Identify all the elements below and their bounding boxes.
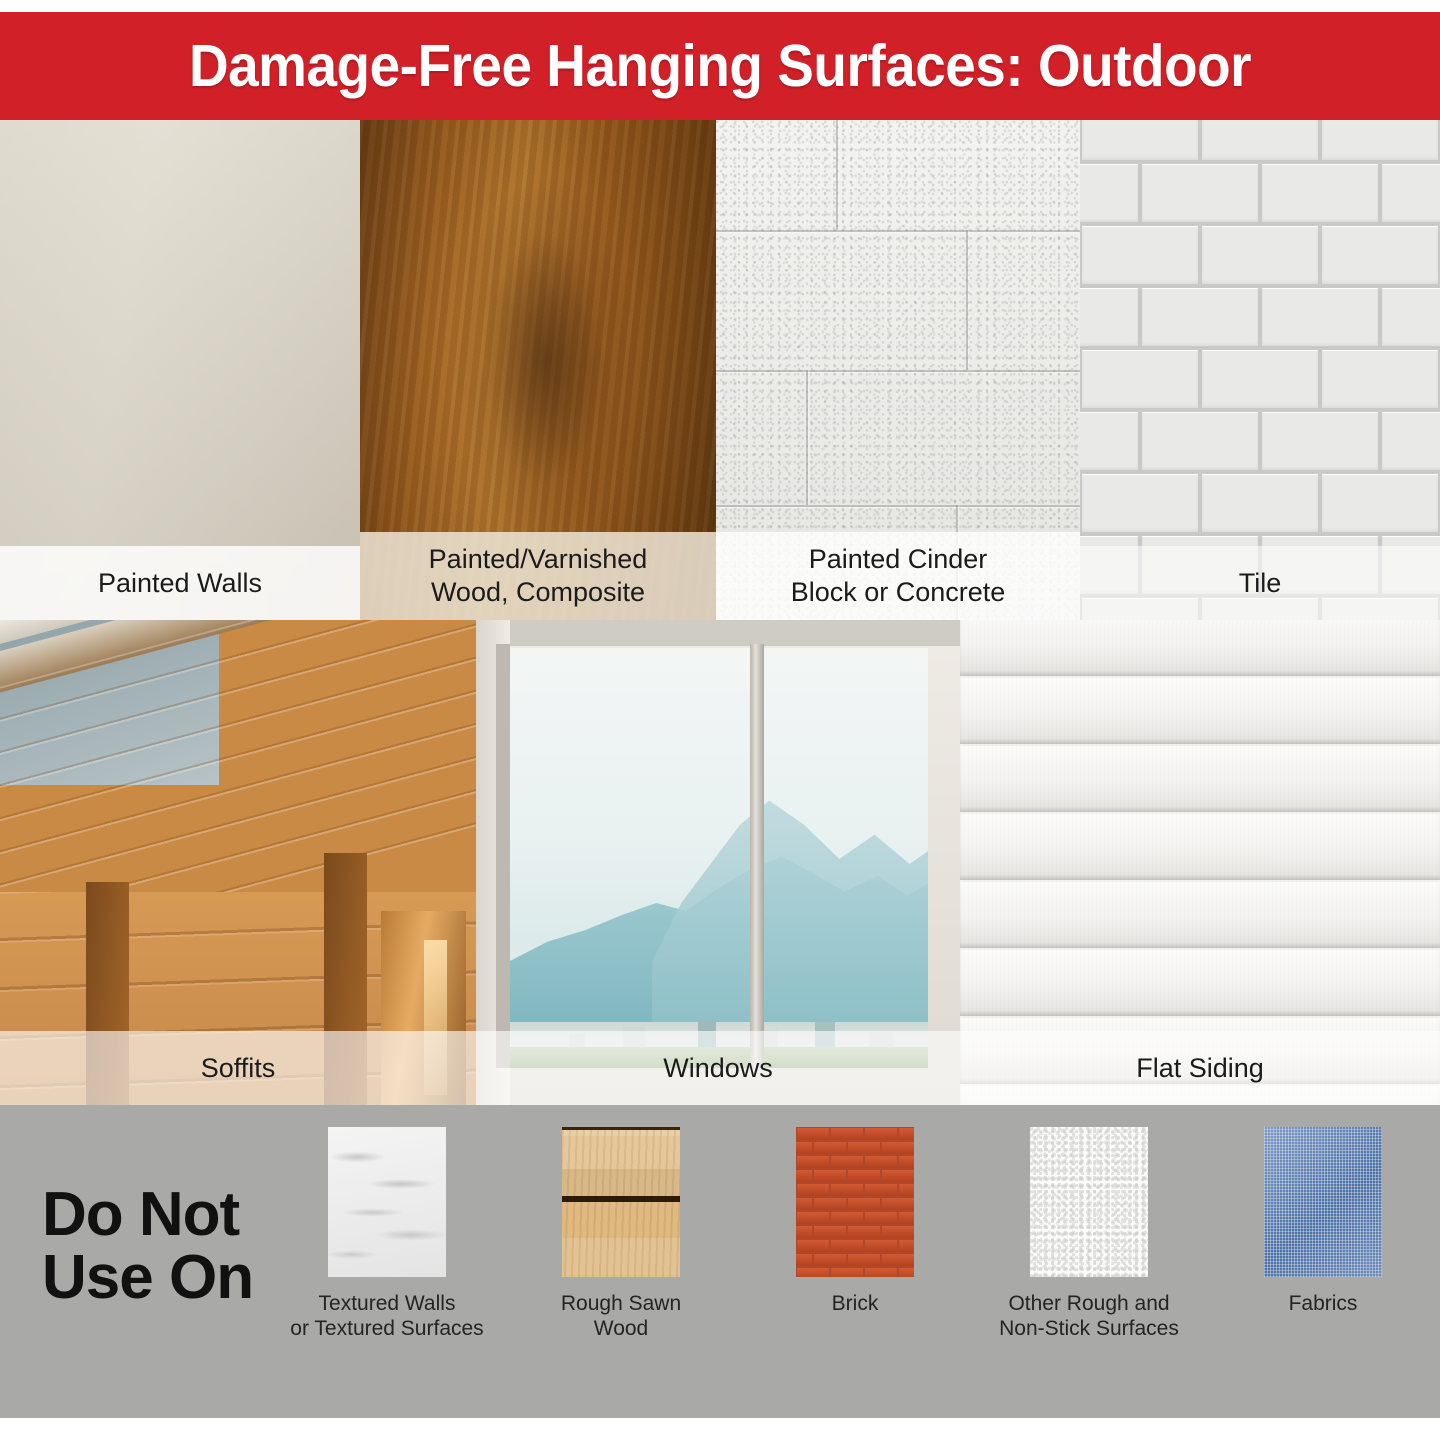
tile-caption: Painted Cinder Block or Concrete: [716, 532, 1080, 620]
surface-tile-painted-varnished-wood: Painted/Varnished Wood, Composite: [360, 120, 716, 620]
label-line-1: Painted Cinder: [809, 544, 988, 574]
label-line-2: Non-Stick Surfaces: [999, 1317, 1179, 1340]
do-not-use-title-line-1: Do Not: [42, 1183, 292, 1246]
tile-caption: Flat Siding: [960, 1031, 1440, 1105]
tile-label-painted-varnished-wood: Painted/Varnished Wood, Composite: [429, 543, 648, 609]
do-not-use-item-label: Other Rough and Non-Stick Surfaces: [999, 1291, 1179, 1341]
tile-caption: Windows: [476, 1031, 960, 1105]
do-not-use-item-label: Rough Sawn Wood: [561, 1291, 681, 1341]
tile-label-tile: Tile: [1239, 567, 1282, 600]
label-line-1: Rough Sawn: [561, 1292, 681, 1315]
do-not-use-item-label: Textured Walls or Textured Surfaces: [290, 1291, 483, 1341]
label-line-1: Brick: [832, 1292, 879, 1315]
do-not-use-item-label: Fabrics: [1289, 1291, 1358, 1316]
tile-label-flat-siding: Flat Siding: [1136, 1052, 1264, 1085]
header-banner: Damage-Free Hanging Surfaces: Outdoor: [0, 12, 1440, 120]
label-line-2: Wood, Composite: [431, 577, 645, 607]
painted-wall-swatch: [0, 120, 360, 620]
do-not-use-item: Other Rough and Non-Stick Surfaces: [972, 1105, 1206, 1341]
rough-sawn-wood-swatch: [562, 1127, 680, 1277]
tile-caption: Soffits: [0, 1031, 476, 1105]
subway-tile-swatch: [1080, 120, 1440, 620]
tile-label-soffits: Soffits: [201, 1052, 276, 1085]
tile-caption: Painted Walls: [0, 546, 360, 620]
tile-label-painted-cinder-block: Painted Cinder Block or Concrete: [791, 543, 1006, 609]
brick-swatch: [796, 1127, 914, 1277]
tile-caption: Tile: [1080, 546, 1440, 620]
do-not-use-item: Rough Sawn Wood: [504, 1105, 738, 1341]
tile-label-windows: Windows: [663, 1052, 773, 1085]
label-line-2: Block or Concrete: [791, 577, 1006, 607]
label-line-1: Textured Walls: [319, 1292, 456, 1315]
other-rough-swatch: [1030, 1127, 1148, 1277]
do-not-use-title-line-2: Use On: [42, 1246, 292, 1309]
surface-tile-painted-cinder-block: Painted Cinder Block or Concrete: [716, 120, 1080, 620]
textured-wall-swatch: [328, 1127, 446, 1277]
tile-label-painted-walls: Painted Walls: [98, 567, 262, 600]
surface-tile-flat-siding: Flat Siding: [960, 620, 1440, 1105]
do-not-use-item: Textured Walls or Textured Surfaces: [270, 1105, 504, 1341]
fabric-swatch: [1264, 1127, 1382, 1277]
page-title: Damage-Free Hanging Surfaces: Outdoor: [189, 32, 1251, 100]
infographic-root: Damage-Free Hanging Surfaces: Outdoor Pa…: [0, 0, 1440, 1440]
surface-tile-soffits: Soffits: [0, 620, 476, 1105]
do-not-use-item-label: Brick: [832, 1291, 879, 1316]
surface-tile-windows: Windows: [476, 620, 960, 1105]
label-line-1: Painted/Varnished: [429, 544, 648, 574]
do-not-use-item-list: Textured Walls or Textured Surfaces Roug…: [270, 1105, 1440, 1418]
do-not-use-title: Do Not Use On: [42, 1183, 292, 1309]
tile-caption: Painted/Varnished Wood, Composite: [360, 532, 716, 620]
surface-tile-painted-walls: Painted Walls: [0, 120, 360, 620]
label-line-2: or Textured Surfaces: [290, 1317, 483, 1340]
label-line-1: Other Rough and: [1008, 1292, 1169, 1315]
label-line-1: Fabrics: [1289, 1292, 1358, 1315]
surface-tile-tile: Tile: [1080, 120, 1440, 620]
do-not-use-item: Brick: [738, 1105, 972, 1316]
do-not-use-section: Do Not Use On Textured Walls or Textured…: [0, 1105, 1440, 1418]
do-not-use-item: Fabrics: [1206, 1105, 1440, 1316]
label-line-2: Wood: [594, 1317, 648, 1340]
